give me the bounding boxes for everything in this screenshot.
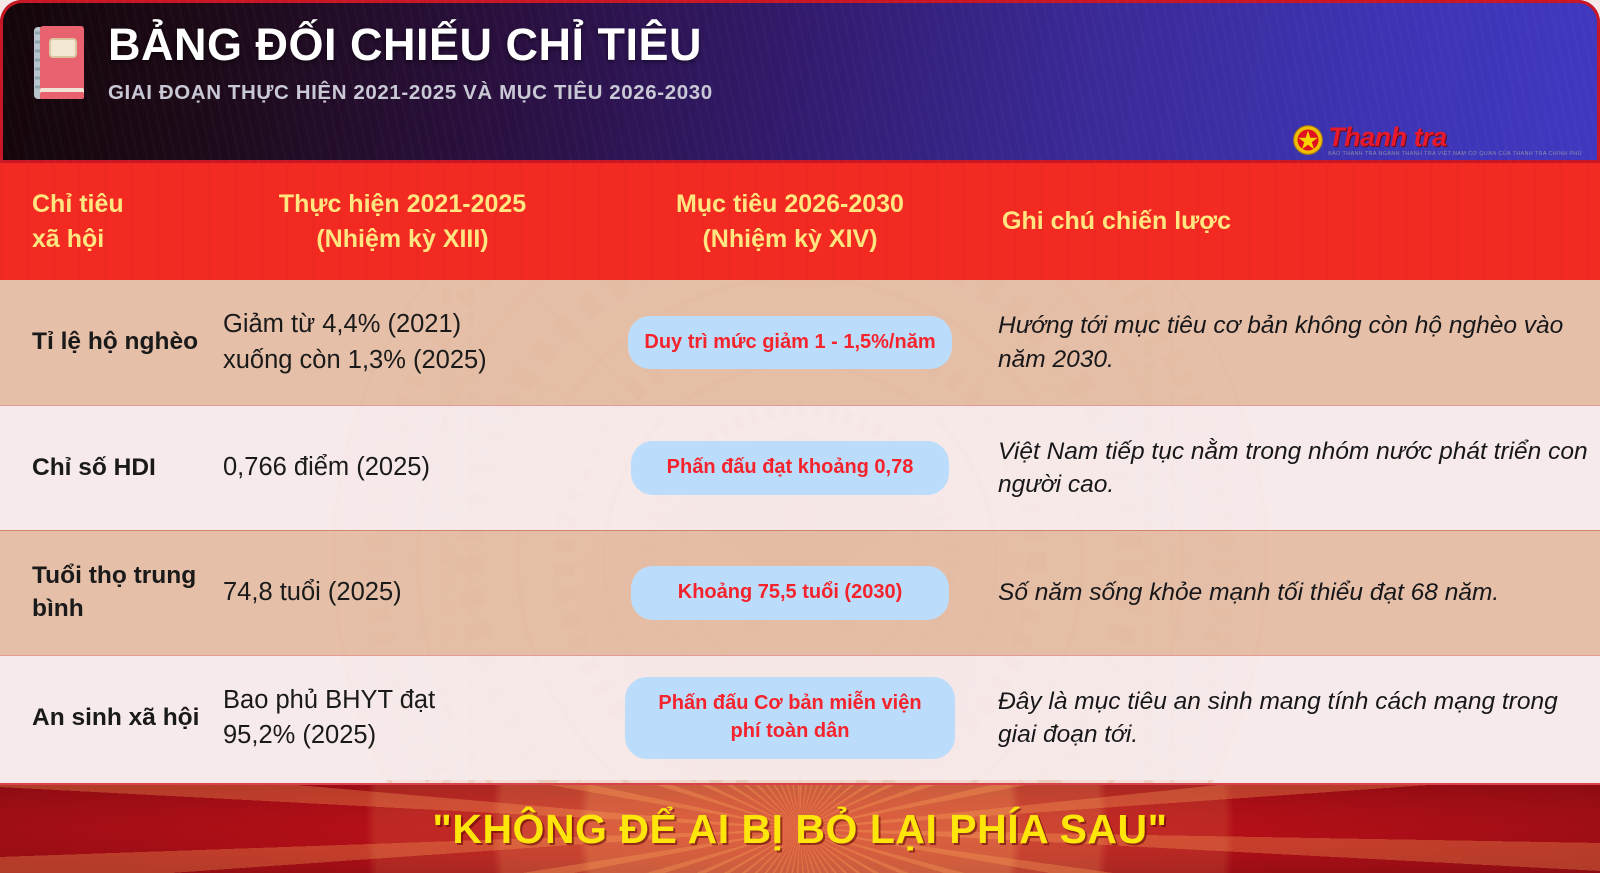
column-header-note-line1: Ghi chú chiến lược: [1002, 204, 1590, 239]
target-pill[interactable]: Phấn đấu Cơ bản miễn viện phí toàn dân: [625, 677, 955, 758]
cell-actual-line1: 0,766 điểm (2025): [223, 450, 590, 485]
column-header-indicator: Chỉ tiêu xã hội: [0, 187, 215, 256]
footer-slogan: "KHÔNG ĐỂ AI BỊ BỎ LẠI PHÍA SAU": [432, 806, 1167, 853]
cell-indicator: Chỉ số HDI: [0, 452, 215, 485]
column-header-actual-line2: (Nhiệm kỳ XIII): [215, 222, 590, 257]
column-header-target-line2: (Nhiệm kỳ XIV): [602, 222, 978, 257]
title-block: BẢNG ĐỐI CHIẾU CHỈ TIÊU GIAI ĐOẠN THỰC H…: [108, 16, 713, 105]
column-header-actual-line1: Thực hiện 2021-2025: [215, 187, 590, 222]
cell-actual: 0,766 điểm (2025): [215, 450, 590, 485]
cell-target: Phấn đấu đạt khoảng 0,78: [590, 441, 990, 495]
cell-actual-line1: 74,8 tuổi (2025): [223, 575, 590, 610]
target-pill[interactable]: Duy trì mức giảm 1 - 1,5%/năm: [628, 316, 951, 370]
page-title: BẢNG ĐỐI CHIẾU CHỈ TIÊU: [108, 20, 713, 70]
column-header-note: Ghi chú chiến lược: [990, 204, 1600, 239]
table-row: Tuổi thọ trung bình 74,8 tuổi (2025) Kho…: [0, 530, 1600, 655]
publisher-logo-text-wrap: Thanh tra BÁO THANH TRA NGÀNH THANH TRA …: [1328, 124, 1582, 157]
target-pill[interactable]: Khoảng 75,5 tuổi (2030): [631, 566, 949, 620]
column-header-target-line1: Mục tiêu 2026-2030: [602, 187, 978, 222]
target-pill[interactable]: Phấn đấu đạt khoảng 0,78: [631, 441, 949, 495]
publisher-tagline: BÁO THANH TRA NGÀNH THANH TRA VIỆT NAM C…: [1328, 152, 1582, 157]
cell-target: Phấn đấu Cơ bản miễn viện phí toàn dân: [590, 677, 990, 758]
column-header-indicator-line2: xã hội: [32, 222, 215, 257]
cell-note: Hướng tới mục tiêu cơ bản không còn hộ n…: [990, 309, 1600, 376]
cell-actual: 74,8 tuổi (2025): [215, 575, 590, 610]
publisher-name: Thanh tra: [1328, 124, 1582, 151]
cell-target: Khoảng 75,5 tuổi (2030): [590, 566, 990, 620]
cell-note: Đây là mục tiêu an sinh mang tính cách m…: [990, 685, 1600, 752]
cell-target: Duy trì mức giảm 1 - 1,5%/năm: [590, 316, 990, 370]
table-header-row: Chỉ tiêu xã hội Thực hiện 2021-2025 (Nhi…: [0, 163, 1600, 280]
cell-indicator: Tỉ lệ hộ nghèo: [0, 326, 215, 359]
publisher-logo[interactable]: Thanh tra BÁO THANH TRA NGÀNH THANH TRA …: [1293, 124, 1582, 157]
cell-actual-line1: Bao phủ BHYT đạt: [223, 683, 590, 718]
cell-note: Việt Nam tiếp tục nằm trong nhóm nước ph…: [990, 435, 1600, 502]
cell-actual-line2: xuống còn 1,3% (2025): [223, 343, 590, 378]
cell-actual-line1: Giảm từ 4,4% (2021): [223, 307, 590, 342]
cell-actual: Giảm từ 4,4% (2021) xuống còn 1,3% (2025…: [215, 307, 590, 377]
table-row: Tỉ lệ hộ nghèo Giảm từ 4,4% (2021) xuống…: [0, 280, 1600, 405]
table-row: Chỉ số HDI 0,766 điểm (2025) Phấn đấu đạ…: [0, 405, 1600, 530]
column-header-indicator-line1: Chỉ tiêu: [32, 187, 215, 222]
notebook-icon: [26, 22, 90, 104]
vietnam-star-emblem-icon: [1293, 125, 1323, 155]
footer-banner: "KHÔNG ĐỂ AI BỊ BỎ LẠI PHÍA SAU": [0, 783, 1600, 873]
cell-note: Số năm sống khỏe mạnh tối thiểu đạt 68 n…: [990, 576, 1600, 609]
header-left-group: BẢNG ĐỐI CHIẾU CHỈ TIÊU GIAI ĐOẠN THỰC H…: [0, 0, 713, 105]
cell-indicator: An sinh xã hội: [0, 702, 215, 735]
header-banner: BẢNG ĐỐI CHIẾU CHỈ TIÊU GIAI ĐOẠN THỰC H…: [0, 0, 1600, 163]
cell-indicator: Tuổi thọ trung bình: [0, 560, 215, 626]
column-header-target: Mục tiêu 2026-2030 (Nhiệm kỳ XIV): [590, 187, 990, 256]
page-subtitle: GIAI ĐOẠN THỰC HIỆN 2021-2025 VÀ MỤC TIÊ…: [108, 81, 713, 105]
cell-actual-line2: 95,2% (2025): [223, 718, 590, 753]
cell-actual: Bao phủ BHYT đạt 95,2% (2025): [215, 683, 590, 753]
column-header-actual: Thực hiện 2021-2025 (Nhiệm kỳ XIII): [215, 187, 590, 256]
comparison-table: Chỉ tiêu xã hội Thực hiện 2021-2025 (Nhi…: [0, 163, 1600, 783]
infographic-page: BẢNG ĐỐI CHIẾU CHỈ TIÊU GIAI ĐOẠN THỰC H…: [0, 0, 1600, 873]
table-row: An sinh xã hội Bao phủ BHYT đạt 95,2% (2…: [0, 655, 1600, 780]
